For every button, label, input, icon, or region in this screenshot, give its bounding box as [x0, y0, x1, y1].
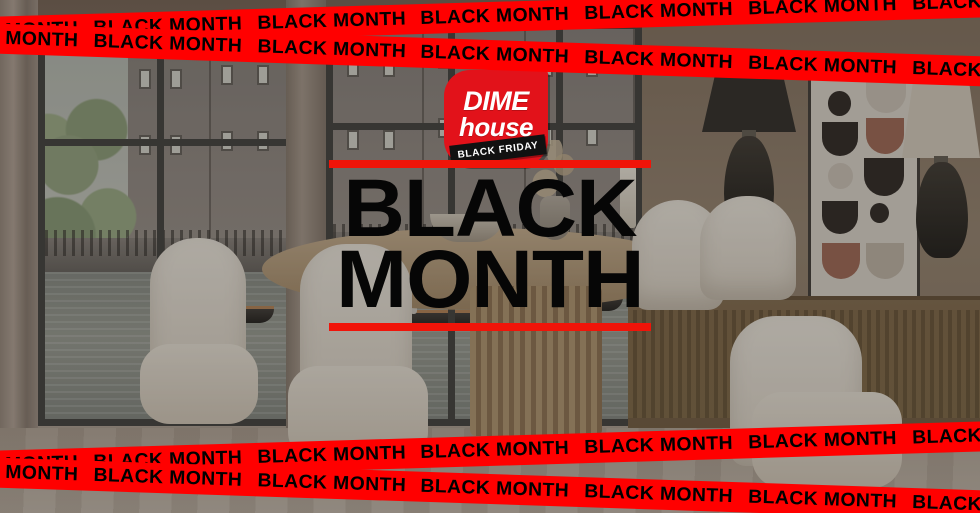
tape-text: BLACK MONTH: [748, 487, 916, 513]
tape-text: BLACK MONTH: [585, 432, 753, 459]
tape-text: BLACK MONTH: [421, 437, 589, 464]
tape-text: BLACK MONTH: [748, 427, 916, 454]
tape-text: BLACK MONTH: [748, 0, 916, 20]
tape-text: BLACK MONTH: [748, 53, 916, 81]
tape-text: BLACK MONTH: [585, 47, 753, 75]
tape-text: BLACK MONTH: [93, 465, 261, 493]
table-lamp-shade: [902, 82, 980, 158]
headline-line-2: MONTH: [336, 245, 643, 316]
tape-text: BLACK MONTH: [421, 476, 589, 504]
tape-text: BLACK MONTH: [0, 459, 97, 487]
tape-text: BLACK MONTH: [585, 0, 753, 25]
tape-text: BLACK MONTH: [257, 8, 425, 35]
tape-text: BLACK MONTH: [257, 36, 425, 64]
tape-text: BLACK MONTH: [912, 492, 980, 513]
headline-block: BLACK MONTH: [0, 160, 980, 331]
dime-house-logo[interactable]: DIME house BLACK FRIDAY: [444, 70, 548, 166]
window-mullion: [45, 139, 289, 146]
tape-text: BLACK MONTH: [912, 58, 980, 86]
tape-text: BLACK MONTH: [912, 0, 980, 15]
tape-text: BLACK MONTH: [257, 442, 425, 469]
tape-text: BLACK MONTH: [585, 481, 753, 509]
tape-text: BLACK MONTH: [93, 31, 261, 59]
tape-text: BLACK MONTH: [421, 3, 589, 30]
promo-banner: DIME house BLACK FRIDAY BLACK MONTH BLAC…: [0, 0, 980, 513]
dining-chair-seat: [140, 344, 258, 424]
tape-text: BLACK MONTH: [257, 470, 425, 498]
tape-text: BLACK MONTH: [421, 42, 589, 70]
tape-text: BLACK MONTH: [912, 423, 980, 450]
tape-text: BLACK MONTH: [0, 25, 97, 53]
